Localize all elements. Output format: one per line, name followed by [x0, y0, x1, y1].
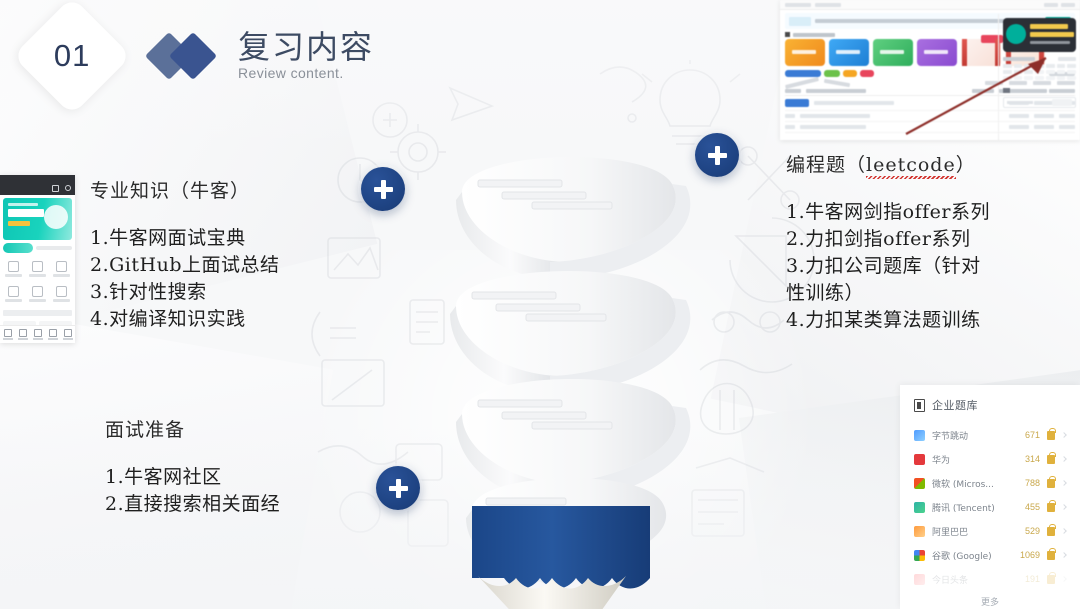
cell-title: [800, 114, 870, 118]
spiral-staircase-pencil-illustration: [350, 110, 780, 609]
item-label: [29, 299, 46, 302]
grid-item[interactable]: [27, 258, 48, 280]
nav-link[interactable]: [815, 3, 841, 7]
lock-icon: [1047, 527, 1055, 536]
text-block-programming-problems: 编程题（leetcode） 1.牛客网剑指offer系列 2.力扣剑指offer…: [786, 150, 1076, 334]
nav-label: [33, 338, 43, 340]
cell-index: [785, 125, 795, 129]
slide-header: 01 复习内容 Review content.: [30, 14, 374, 98]
list-item: 4.对编译知识实践: [90, 306, 390, 333]
list-item: 1.牛客网面试宝典: [90, 225, 390, 252]
nav-icon: [34, 329, 42, 337]
list-item: 2.GitHub上面试总结: [90, 252, 390, 279]
nav-icon: [49, 329, 57, 337]
nav-link[interactable]: [1044, 3, 1058, 7]
slide-canvas: 01 复习内容 Review content.: [0, 0, 1080, 609]
cell-title: [800, 125, 866, 129]
topbar-right[interactable]: [1044, 3, 1075, 7]
nav-icon: [64, 329, 72, 337]
grid-item[interactable]: [3, 258, 24, 280]
problem-count: 788: [1025, 478, 1040, 488]
nav-item[interactable]: [15, 326, 30, 343]
company-name: 今日头条: [932, 573, 968, 586]
filter-label[interactable]: [824, 79, 850, 87]
tag-chip[interactable]: [785, 70, 821, 77]
book-icon: [914, 399, 925, 412]
block-heading: 编程题（leetcode）: [786, 150, 1076, 177]
company-row[interactable]: 阿里巴巴 529: [914, 519, 1066, 543]
nav-icon: [19, 329, 27, 337]
bottom-navigation[interactable]: [0, 325, 75, 343]
company-row[interactable]: 华为 314: [914, 447, 1066, 471]
tab-rest[interactable]: [36, 246, 72, 250]
section-label: [793, 33, 835, 37]
item-label: [53, 274, 70, 277]
title-group: 复习内容 Review content.: [238, 31, 374, 82]
company-name: 微软 (Micros...: [932, 477, 994, 490]
promo-line: [1030, 32, 1074, 37]
lock-icon: [1047, 431, 1055, 440]
company-row[interactable]: 腾讯 (Tencent) 455: [914, 495, 1066, 519]
nav-item[interactable]: [60, 326, 75, 343]
calendar-cell[interactable]: [1067, 76, 1076, 80]
leetcode-site-screenshot[interactable]: [780, 0, 1080, 140]
list-item: 3.针对性搜索: [90, 279, 390, 306]
list-item: 1.牛客网剑指offer系列: [786, 199, 1076, 226]
panel-title: 企业题库: [932, 397, 978, 413]
nav-link[interactable]: [1061, 3, 1075, 7]
item-icon: [8, 286, 19, 297]
grid-item[interactable]: [51, 258, 72, 280]
chevron-right-icon: [1061, 552, 1067, 558]
status-bar: [0, 175, 75, 182]
lock-icon: [1047, 575, 1055, 584]
list-item: 4.力扣某类算法题训练: [786, 307, 1076, 334]
section-number: 01: [54, 38, 90, 74]
chevron-right-icon: [1061, 528, 1067, 534]
tab-active[interactable]: [3, 243, 33, 253]
icon-grid[interactable]: [0, 255, 75, 308]
company-name: 字节跳动: [932, 429, 968, 442]
nav-label: [63, 338, 73, 340]
site-logo: [785, 3, 811, 7]
item-icon: [8, 261, 19, 272]
cell-index: [785, 114, 795, 118]
block-heading: 面试准备: [105, 415, 405, 442]
annotation-arrow-icon: [900, 48, 1060, 138]
problem-count: 455: [1025, 502, 1040, 512]
logo-diamonds: [150, 30, 222, 82]
tencent-icon: [914, 502, 925, 513]
company-name: 腾讯 (Tencent): [932, 501, 995, 514]
category-card[interactable]: [785, 39, 825, 66]
lock-icon: [1047, 503, 1055, 512]
list-item: 3.力扣公司题库（针对 性训练）: [786, 253, 1076, 307]
section-divider: [3, 310, 72, 316]
google-icon: [914, 550, 925, 561]
tag-chip[interactable]: [860, 70, 874, 77]
nav-icon: [4, 329, 12, 337]
more-link[interactable]: 更多: [914, 595, 1066, 608]
nav-label: [3, 338, 13, 340]
lock-icon: [1047, 551, 1055, 560]
calendar-action[interactable]: [1058, 57, 1076, 61]
promo-badge-icon: [1006, 24, 1026, 44]
calendar-cell[interactable]: [1067, 70, 1076, 74]
page-subtitle: Review content.: [238, 65, 374, 81]
item-label: [5, 274, 22, 277]
problem-count: 314: [1025, 454, 1040, 464]
promo-subline: [1030, 41, 1070, 44]
company-problem-library-panel[interactable]: 企业题库 字节跳动 671 华为 314 微软 (Micros... 788 腾…: [900, 385, 1080, 609]
heading-prefix: 编程题（: [786, 154, 866, 176]
promo-line: [1030, 24, 1068, 29]
promo-card[interactable]: [1003, 18, 1076, 52]
grid-item[interactable]: [3, 283, 24, 305]
mobile-app-screenshot[interactable]: [0, 175, 75, 343]
site-topbar[interactable]: [780, 0, 1080, 10]
section-icon: [785, 32, 790, 37]
item-icon: [56, 286, 67, 297]
page-title: 复习内容: [238, 31, 374, 65]
banner-art: [44, 205, 68, 229]
company-row[interactable]: 今日头条 191: [914, 567, 1066, 591]
banner-tag: [8, 221, 30, 226]
promo-banner[interactable]: [3, 198, 72, 240]
item-icon: [56, 261, 67, 272]
nav-label: [18, 338, 28, 340]
company-name: 华为: [932, 453, 950, 466]
lock-icon: [1047, 455, 1055, 464]
alibaba-icon: [914, 526, 925, 537]
list-item: 1.牛客网社区: [105, 464, 405, 491]
company-row[interactable]: 字节跳动 671: [914, 423, 1066, 447]
bytedance-icon: [914, 430, 925, 441]
chevron-right-icon: [1061, 576, 1067, 582]
chevron-right-icon: [1061, 504, 1067, 510]
heading-spellchecked-term: leetcode: [866, 154, 956, 176]
item-icon: [32, 261, 43, 272]
heading-suffix: ）: [956, 154, 976, 176]
banner-line: [8, 203, 38, 206]
problem-count: 191: [1025, 574, 1040, 584]
card-label: [792, 50, 816, 54]
problem-count: 529: [1025, 526, 1040, 536]
filter-label[interactable]: [785, 77, 819, 89]
company-name: 谷歌 (Google): [932, 549, 992, 562]
row-badge: [785, 99, 809, 107]
problem-count: 671: [1025, 430, 1040, 440]
company-row[interactable]: 谷歌 (Google) 1069: [914, 543, 1066, 567]
chevron-right-icon: [1061, 480, 1067, 486]
toutiao-icon: [914, 574, 925, 585]
company-name: 阿里巴巴: [932, 525, 968, 538]
chevron-right-icon: [1061, 456, 1067, 462]
nav-label: [48, 338, 58, 340]
item-icon: [32, 286, 43, 297]
problem-count: 1069: [1020, 550, 1040, 560]
column-header: [785, 89, 801, 93]
category-card[interactable]: [829, 39, 869, 66]
tag-chip[interactable]: [824, 70, 840, 77]
banner-title: [8, 209, 44, 217]
grid-item[interactable]: [51, 283, 72, 305]
cell-title: [814, 101, 894, 105]
plus-badge-icon[interactable]: [695, 133, 739, 177]
item-label: [29, 274, 46, 277]
huawei-icon: [914, 454, 925, 465]
panel-title-row: 企业题库: [914, 397, 1066, 413]
column-header: [806, 89, 866, 93]
app-navbar: [0, 182, 75, 195]
nav-item[interactable]: [30, 326, 45, 343]
item-label: [53, 299, 70, 302]
search-icon: [65, 185, 71, 191]
card-label: [836, 50, 860, 54]
grid-icon: [52, 185, 59, 192]
block-heading: 专业知识（牛客）: [90, 176, 390, 203]
lock-icon: [1047, 479, 1055, 488]
chevron-right-icon: [1061, 432, 1067, 438]
calendar-cell[interactable]: [1067, 64, 1076, 68]
nav-item[interactable]: [45, 326, 60, 343]
company-row[interactable]: 微软 (Micros... 788: [914, 471, 1066, 495]
list-item: 2.直接搜索相关面经: [105, 491, 405, 518]
tag-chip[interactable]: [843, 70, 857, 77]
nav-item[interactable]: [0, 326, 15, 343]
announcement-logo: [789, 17, 811, 26]
tab-strip[interactable]: [3, 243, 72, 253]
text-block-interview-prep: 面试准备 1.牛客网社区 2.直接搜索相关面经: [105, 415, 405, 518]
text-block-professional-knowledge: 专业知识（牛客） 1.牛客网面试宝典 2.GitHub上面试总结 3.针对性搜索…: [90, 176, 390, 333]
list-item: 2.力扣剑指offer系列: [786, 226, 1076, 253]
item-label: [5, 299, 22, 302]
microsoft-icon: [914, 478, 925, 489]
grid-item[interactable]: [27, 283, 48, 305]
